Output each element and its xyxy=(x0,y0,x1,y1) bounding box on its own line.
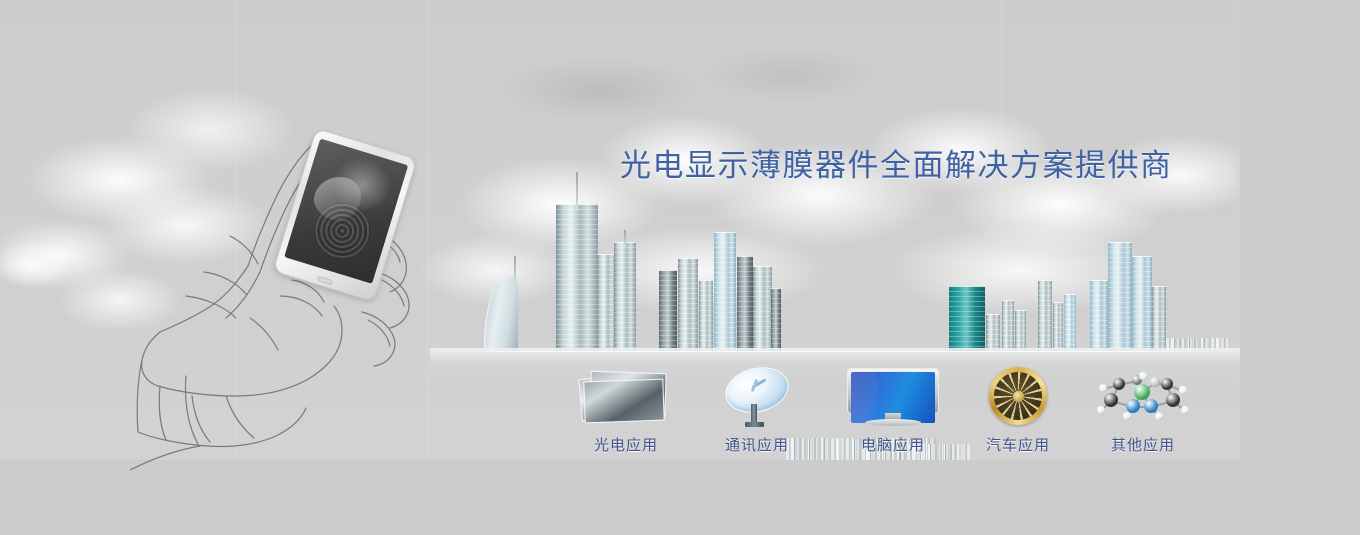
app-item-optoelectronic[interactable]: 光电应用 xyxy=(566,366,686,455)
app-item-automotive[interactable]: 汽车应用 xyxy=(958,366,1078,455)
app-item-other[interactable]: 其他应用 xyxy=(1083,366,1203,455)
app-label: 电脑应用 xyxy=(833,434,953,455)
satellite-dish-icon xyxy=(697,366,817,428)
application-row: 光电应用 通讯应用 xyxy=(0,0,1240,470)
app-item-communication[interactable]: 通讯应用 xyxy=(697,366,817,455)
molecule-icon xyxy=(1083,366,1203,428)
car-wheel-icon xyxy=(958,366,1078,428)
app-label: 通讯应用 xyxy=(697,434,817,455)
app-item-computer[interactable]: 电脑应用 xyxy=(833,366,953,455)
glass-panels-icon xyxy=(566,366,686,428)
computer-monitor-icon xyxy=(833,366,953,428)
app-label: 汽车应用 xyxy=(958,434,1078,455)
hero-banner: 光电显示薄膜器件全面解决方案提供商 光电应用 通讯应用 xyxy=(0,0,1360,535)
app-label: 光电应用 xyxy=(566,434,686,455)
app-label: 其他应用 xyxy=(1083,434,1203,455)
